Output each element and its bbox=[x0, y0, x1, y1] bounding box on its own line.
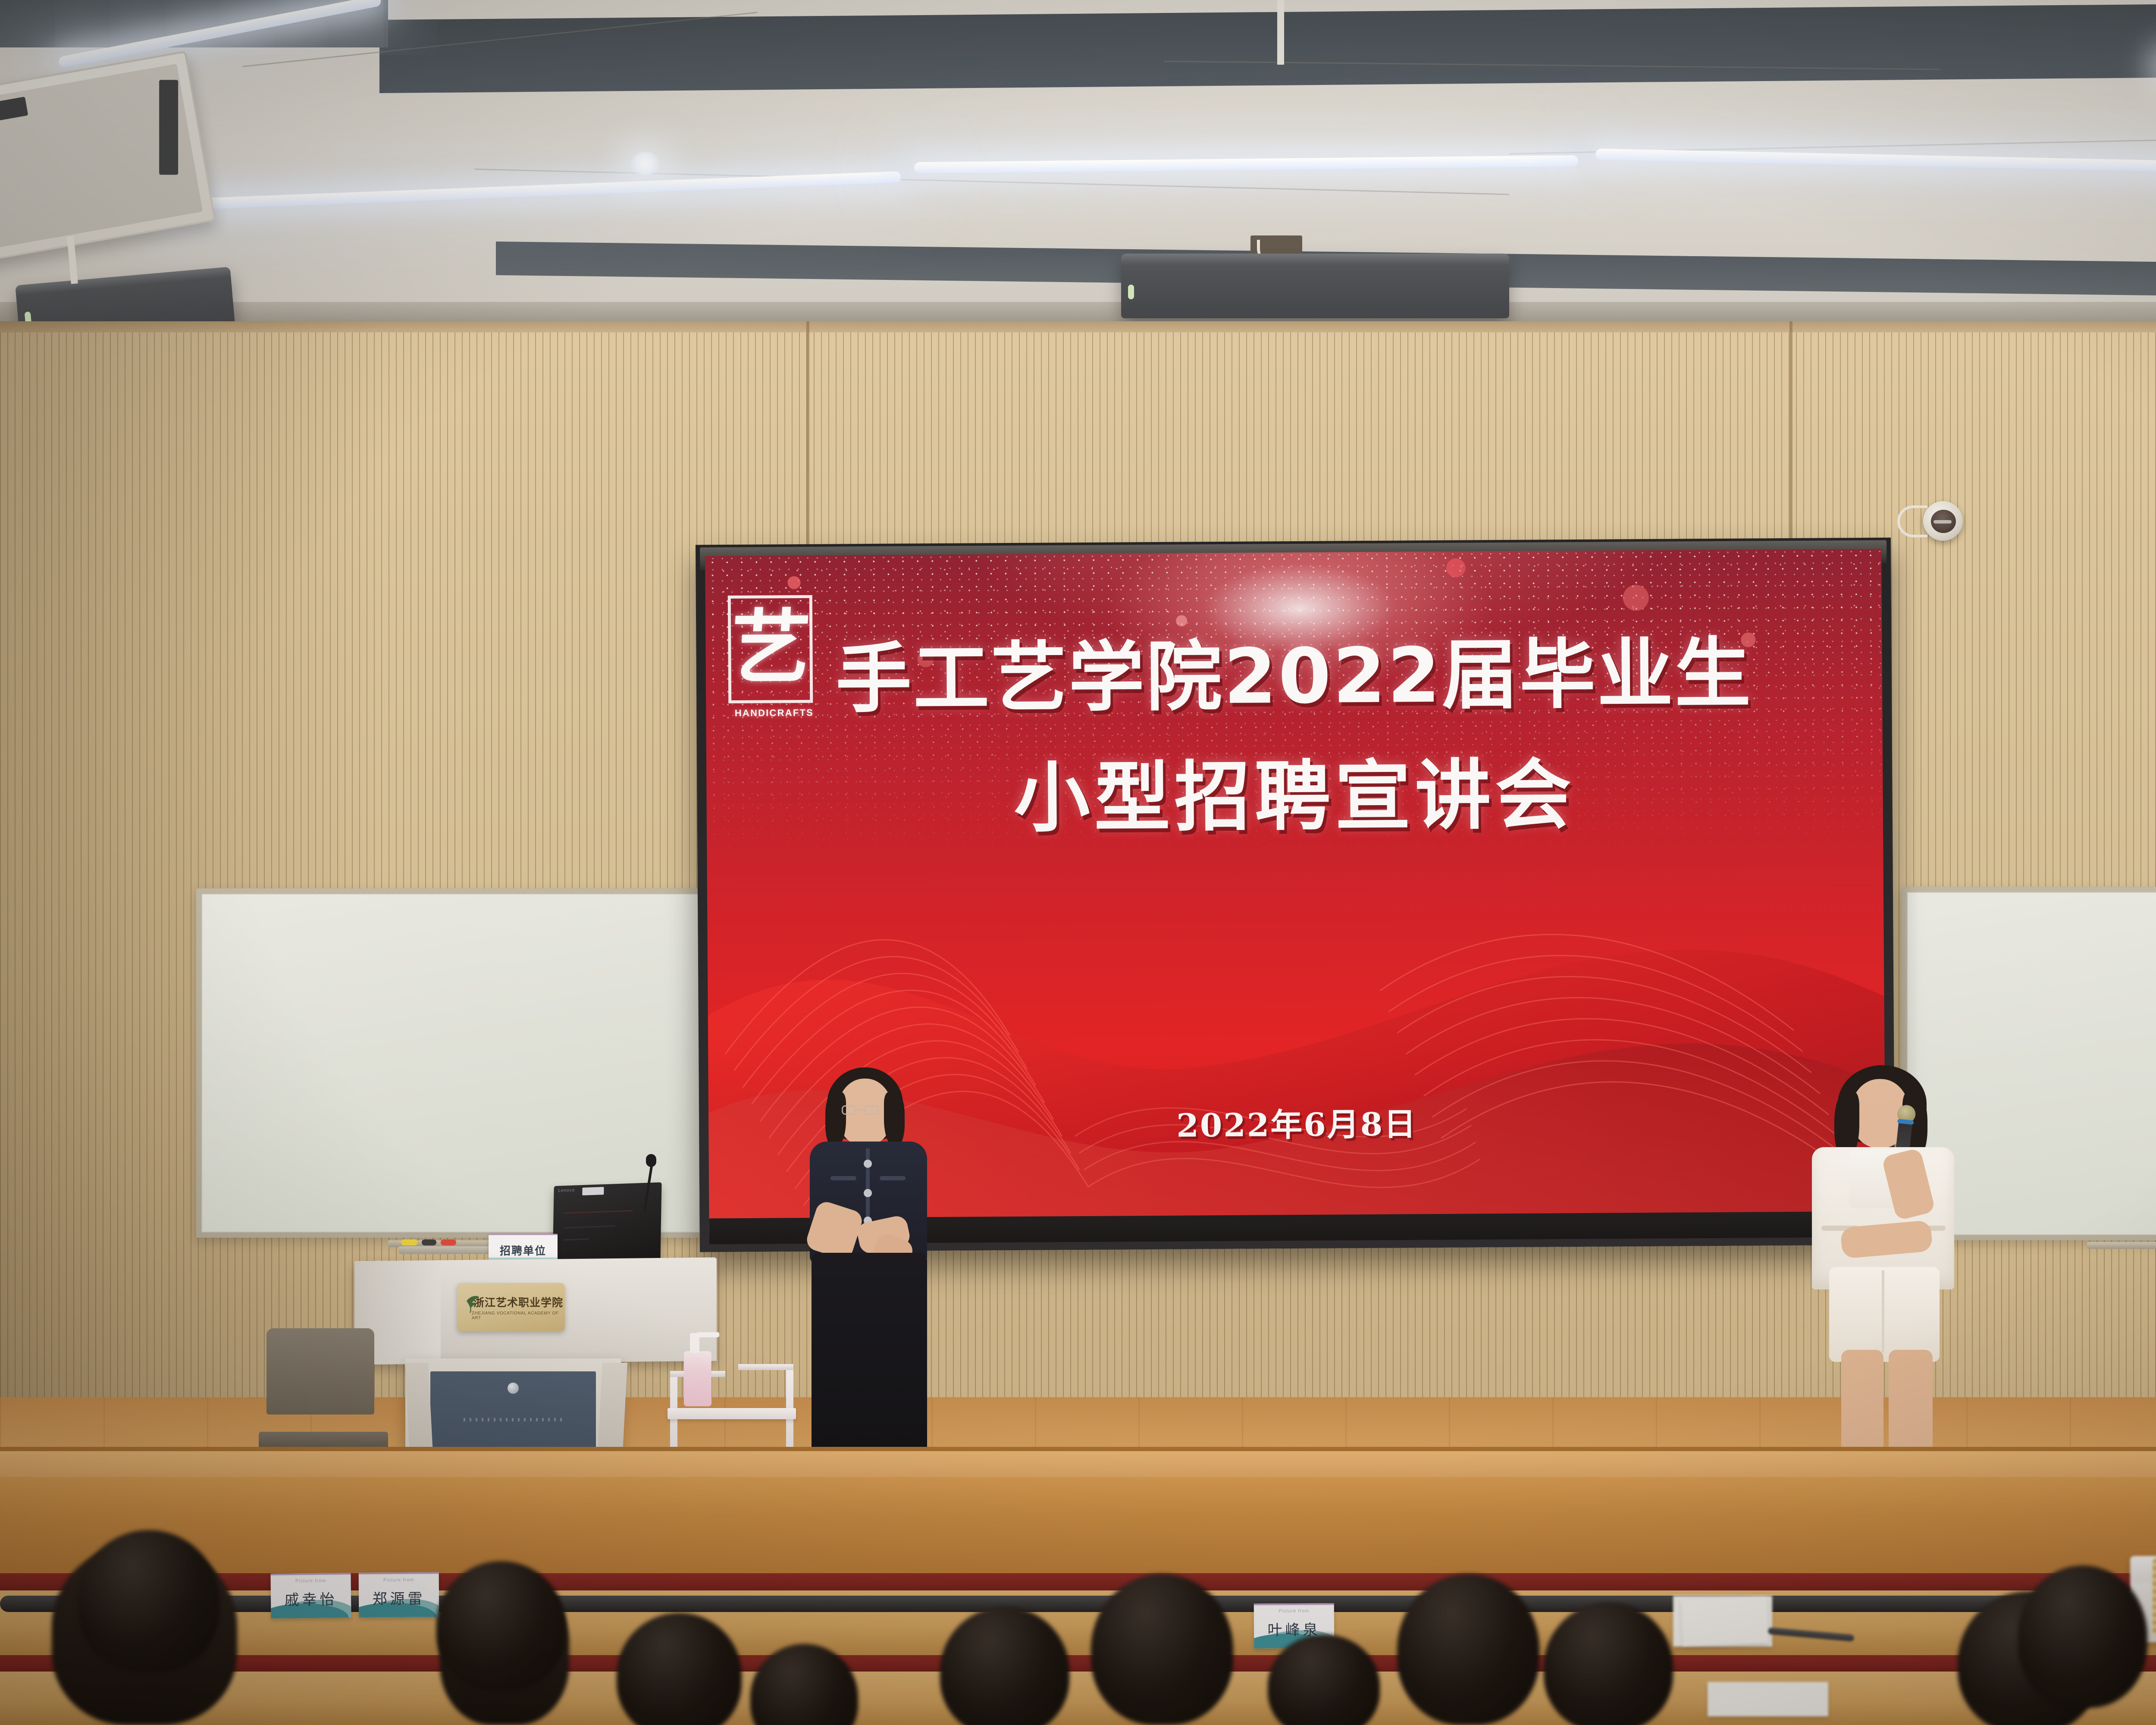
hand-sanitizer-bottle[interactable] bbox=[684, 1351, 711, 1406]
placard-name: 戚幸怡 bbox=[271, 1587, 351, 1609]
slide-title-line2: 小型招聘宣讲会 bbox=[706, 753, 1883, 841]
host-glasses bbox=[842, 1105, 879, 1116]
institution-plaque: 浙江艺术职业学院 ZHEJIANG VOCATIONAL ACADEMY OF … bbox=[457, 1283, 565, 1331]
host-button bbox=[864, 1189, 872, 1197]
placard-name: 郑源雷 bbox=[359, 1587, 439, 1608]
slide-title-line1: 手工艺学院2022届毕业生 bbox=[705, 633, 1882, 721]
speaker-shorts bbox=[1829, 1267, 1940, 1362]
recruiter-card-label: 招聘单位 bbox=[500, 1242, 546, 1258]
speaker-shorts-seam bbox=[1882, 1270, 1884, 1352]
marker-red[interactable] bbox=[441, 1239, 456, 1245]
bokeh-dot bbox=[1176, 615, 1187, 626]
slide-title-block: 手工艺学院2022届毕业生 小型招聘宣讲会 bbox=[705, 633, 1883, 841]
lecture-hall-photo: 艺 HANDICRAFTS 手工艺学院2022届毕业生 小型招聘宣讲会 2022… bbox=[0, 0, 2156, 1725]
stage-edge-line bbox=[0, 1447, 2156, 1451]
paper-sheet[interactable] bbox=[1708, 1682, 1828, 1716]
name-placard: Picture from 郑源雷 bbox=[359, 1572, 439, 1617]
podium-mic-head bbox=[646, 1154, 656, 1167]
bokeh-dot bbox=[1623, 585, 1648, 611]
placard-header: Picture from bbox=[1254, 1609, 1334, 1614]
audience-head bbox=[78, 1530, 220, 1672]
monitor-brand-label: Lenovo bbox=[558, 1188, 575, 1193]
desk-row-front-mid bbox=[0, 1655, 2156, 1672]
host-pocket-trim bbox=[880, 1176, 906, 1180]
bokeh-dot bbox=[787, 576, 800, 589]
host-button bbox=[864, 1160, 872, 1168]
marker-yellow[interactable] bbox=[401, 1239, 417, 1245]
bird-logo-icon bbox=[465, 1294, 480, 1315]
whiteboard-marker-tray-right bbox=[2087, 1242, 2156, 1249]
wall-seam bbox=[1789, 321, 1792, 563]
projector-stem bbox=[1277, 0, 1284, 65]
projector-housing bbox=[1121, 254, 1509, 318]
desk-row-front bbox=[0, 1672, 2156, 1725]
monitor-sticker bbox=[582, 1187, 604, 1195]
podium-lock-icon bbox=[508, 1383, 519, 1394]
podium-marker-tray bbox=[399, 1246, 494, 1254]
bokeh-dot bbox=[1446, 558, 1465, 577]
podium-vent-dots bbox=[464, 1418, 563, 1421]
placard-header: Picture from bbox=[359, 1577, 439, 1583]
stage-front-face bbox=[0, 1477, 2156, 1576]
ceiling-edge-trim bbox=[0, 302, 2156, 323]
audience-head bbox=[436, 1561, 566, 1690]
host-pocket-trim bbox=[830, 1176, 856, 1180]
ceiling-downlight bbox=[630, 152, 661, 175]
plaque-chinese-name: 浙江艺术职业学院 bbox=[473, 1294, 563, 1310]
audience-head bbox=[1544, 1603, 1673, 1725]
name-placard: Picture from 戚幸怡 bbox=[270, 1573, 351, 1618]
host-hair-side bbox=[884, 1092, 905, 1147]
host-hair-side bbox=[825, 1092, 846, 1148]
plaque-english-name: ZHEJIANG VOCATIONAL ACADEMY OF ART bbox=[472, 1311, 565, 1320]
placard-header: Picture from bbox=[271, 1578, 351, 1584]
security-dome-camera-icon bbox=[1923, 501, 1963, 541]
audience-head bbox=[2018, 1565, 2147, 1708]
paper-sheet[interactable] bbox=[1681, 1597, 1769, 1647]
audience-head bbox=[1091, 1574, 1233, 1725]
wall-seam bbox=[806, 321, 809, 563]
ceiling-dark-band bbox=[379, 0, 2156, 93]
marker-black[interactable] bbox=[422, 1239, 436, 1245]
wall-top-trim bbox=[0, 321, 2156, 332]
audience-head bbox=[1397, 1574, 1539, 1725]
camera-wire bbox=[1897, 505, 1927, 537]
